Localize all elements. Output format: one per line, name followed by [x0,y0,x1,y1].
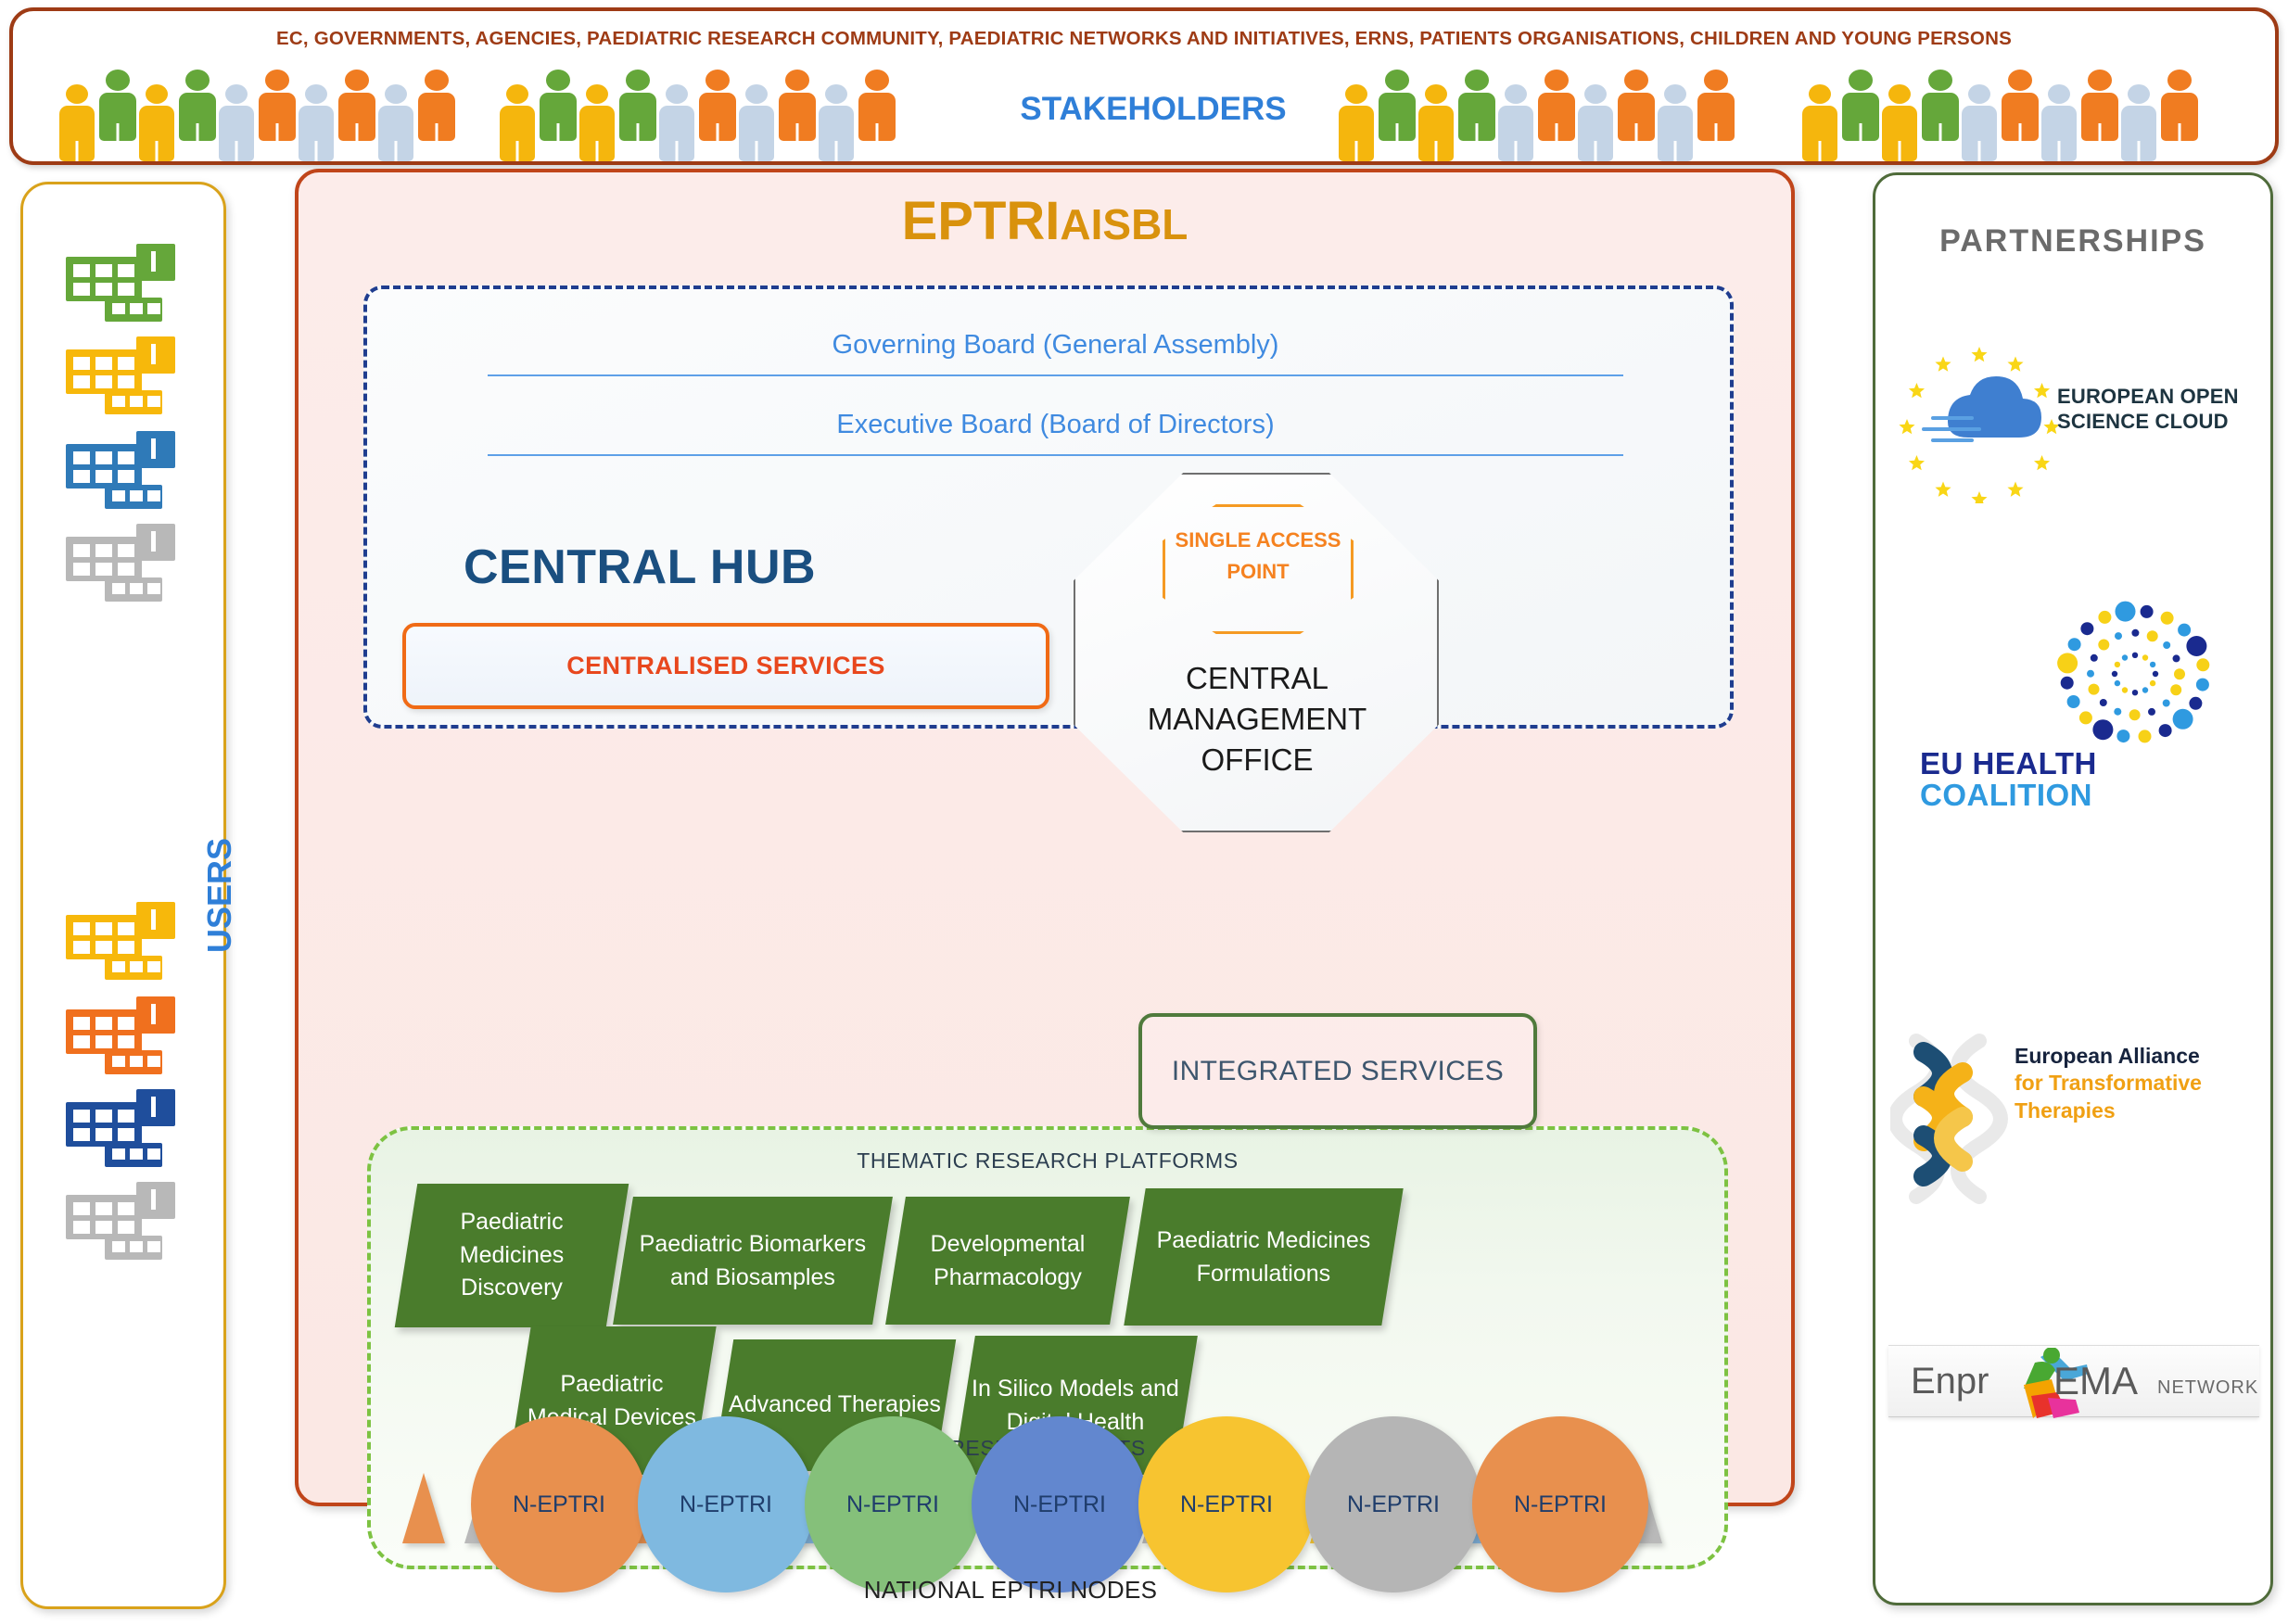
person-icon [779,70,816,141]
person-icon [418,70,455,141]
executive-board-divider [488,454,1623,456]
platform-label: Paediatric Biomarkers and Biosamples [623,1228,883,1294]
platform-label: Developmental Pharmacology [896,1228,1120,1294]
person-icon [2121,84,2156,161]
person-icon [259,70,296,141]
users-label: USERS [200,838,239,953]
partnerships-title: PARTNERSHIPS [1875,223,2270,260]
person-icon [2041,84,2077,161]
stakeholders-panel: EC, GOVERNMENTS, AGENCIES, PAEDIATRIC RE… [9,7,2279,165]
node-label: N-EPTRI [680,1491,772,1518]
governing-board-divider [488,374,1623,376]
european-alliance-label: European Alliance for Transformative The… [2015,1043,2274,1124]
person-icon [2081,70,2118,141]
enpr-ema-banner: Enpr EMA NETWORK [1888,1345,2259,1417]
node-label: N-EPTRI [513,1491,605,1518]
eptri-title-sub: AISBL [1060,200,1188,248]
eu-health-coalition-label: EU HEALTH COALITION [1920,748,2198,810]
person-icon [59,84,95,161]
partner-logo-eu-health-coalition[interactable]: EU HEALTH COALITION [1875,592,2270,824]
sap-line-1: SINGLE ACCESS [1163,525,1354,556]
eosc-line-1: EUROPEAN OPEN [2057,385,2270,410]
cmo-line-3: OFFICE [1100,740,1415,780]
person-icon [1538,70,1575,141]
integrated-services-box[interactable]: INTEGRATED SERVICES [1138,1013,1537,1129]
eptri-title-main: EPTRI [902,191,1061,251]
person-icon [739,84,774,161]
centralised-services-box[interactable]: CENTRALISED SERVICES [402,623,1049,709]
eat-line-2: for Transformative [2015,1070,2274,1097]
person-icon [1379,70,1416,141]
person-icon [540,70,577,141]
person-icon [1962,84,1997,161]
eosc-label: EUROPEAN OPEN SCIENCE CLOUD [2057,385,2270,435]
person-icon [659,84,694,161]
partnerships-panel: PARTNERSHIPS EUROPEAN OPEN SCIENCE CLOUD… [1873,172,2273,1605]
person-icon [1697,70,1735,141]
national-eptri-node[interactable]: N-EPTRI [805,1416,981,1592]
platform-label: Paediatric Medicines Formulations [1135,1224,1392,1290]
person-icon [179,70,216,141]
building-icon [66,333,177,414]
person-icon [1882,84,1917,161]
platform-card[interactable]: Paediatric Medicines Formulations [1124,1188,1403,1326]
person-icon [819,84,854,161]
person-icon [99,70,136,141]
platform-label: Paediatric Medicines Discovery [406,1206,617,1305]
partner-logo-european-alliance[interactable]: European Alliance for Transformative The… [1875,1019,2270,1213]
person-icon [1339,84,1374,161]
building-icon [66,240,177,322]
ema-label: EMA [2053,1359,2138,1403]
building-icon [66,1085,177,1167]
national-eptri-node[interactable]: N-EPTRI [1305,1416,1481,1592]
executive-board-label: Executive Board (Board of Directors) [478,410,1633,440]
national-eptri-nodes-label: NATIONAL EPTRI NODES [760,1576,1261,1605]
person-icon [1418,84,1454,161]
person-icon [2002,70,2039,141]
person-icon [1578,84,1613,161]
person-icon [338,70,375,141]
person-icon [1922,70,1959,141]
building-icon [66,1178,177,1260]
enpr-label: Enpr [1911,1361,1989,1402]
person-icon [1618,70,1655,141]
person-icon [1458,70,1495,141]
national-eptri-node[interactable]: N-EPTRI [1472,1416,1648,1592]
eosc-line-2: SCIENCE CLOUD [2057,410,2270,435]
central-hub-container: Governing Board (General Assembly) Execu… [363,285,1734,729]
building-icon [66,427,177,509]
single-access-point-label: SINGLE ACCESS POINT [1163,525,1354,588]
person-icon [500,84,535,161]
users-panel: COMPANIES, LABORATORIES, SCIENTISTS, CHA… [20,182,226,1609]
eu-health-coalition-icon [1996,592,2274,759]
central-hub-label: CENTRAL HUB [464,539,816,595]
partner-logo-enpr-ema[interactable]: Enpr EMA NETWORK [1875,1345,2270,1438]
national-eptri-node[interactable]: N-EPTRI [972,1416,1148,1592]
building-icon [66,520,177,602]
eosc-icon [1875,318,2061,503]
person-icon [2161,70,2198,141]
person-icon [699,70,736,141]
node-label: N-EPTRI [1347,1491,1440,1518]
person-icon [858,70,896,141]
dna-helix-icon [1890,1028,2011,1204]
stakeholders-label: STAKEHOLDERS [977,91,1329,128]
building-icon [66,898,177,980]
national-eptri-node[interactable]: N-EPTRI [638,1416,814,1592]
building-icon [66,993,177,1074]
person-icon [579,84,615,161]
eat-line-3: Therapies [2015,1097,2274,1124]
sap-line-2: POINT [1163,556,1354,588]
national-eptri-node[interactable]: N-EPTRI [1138,1416,1315,1592]
national-eptri-node[interactable]: N-EPTRI [471,1416,647,1592]
person-icon [1658,84,1693,161]
research-unit-triangle [402,1473,445,1543]
platform-card[interactable]: Paediatric Biomarkers and Biosamples [613,1197,893,1325]
person-icon [139,84,174,161]
eptri-title: EPTRIAISBL [299,195,1791,248]
person-icon [378,84,413,161]
euhc-line-1: EU HEALTH [1920,748,2198,780]
governing-board-label: Governing Board (General Assembly) [478,330,1633,361]
person-icon [1498,84,1533,161]
person-icon [1842,70,1879,141]
euhc-line-2: COALITION [1920,780,2198,811]
platform-card[interactable]: Paediatric Medicines Discovery [395,1184,629,1327]
central-management-office-label: CENTRAL MANAGEMENT OFFICE [1100,658,1415,780]
cmo-line-2: MANAGEMENT [1100,699,1415,740]
node-label: N-EPTRI [1180,1491,1273,1518]
thematic-research-platforms-label: THEMATIC RESEARCH PLATFORMS [371,1148,1724,1174]
person-icon [1802,84,1837,161]
eptri-aisbl-panel: EPTRIAISBL Governing Board (General Asse… [295,169,1795,1506]
person-icon [619,70,656,141]
person-icon [299,84,334,161]
node-label: N-EPTRI [1514,1491,1607,1518]
node-label: N-EPTRI [846,1491,939,1518]
network-label: NETWORK [2157,1377,2258,1399]
partner-logo-eosc[interactable]: EUROPEAN OPEN SCIENCE CLOUD [1875,314,2270,509]
platform-card[interactable]: Developmental Pharmacology [885,1197,1130,1325]
eat-line-1: European Alliance [2015,1043,2274,1070]
node-label: N-EPTRI [1013,1491,1106,1518]
cmo-line-1: CENTRAL [1100,658,1415,699]
stakeholders-description: EC, GOVERNMENTS, AGENCIES, PAEDIATRIC RE… [13,28,2275,50]
platform-label: Advanced Therapies [729,1389,941,1422]
person-icon [219,84,254,161]
